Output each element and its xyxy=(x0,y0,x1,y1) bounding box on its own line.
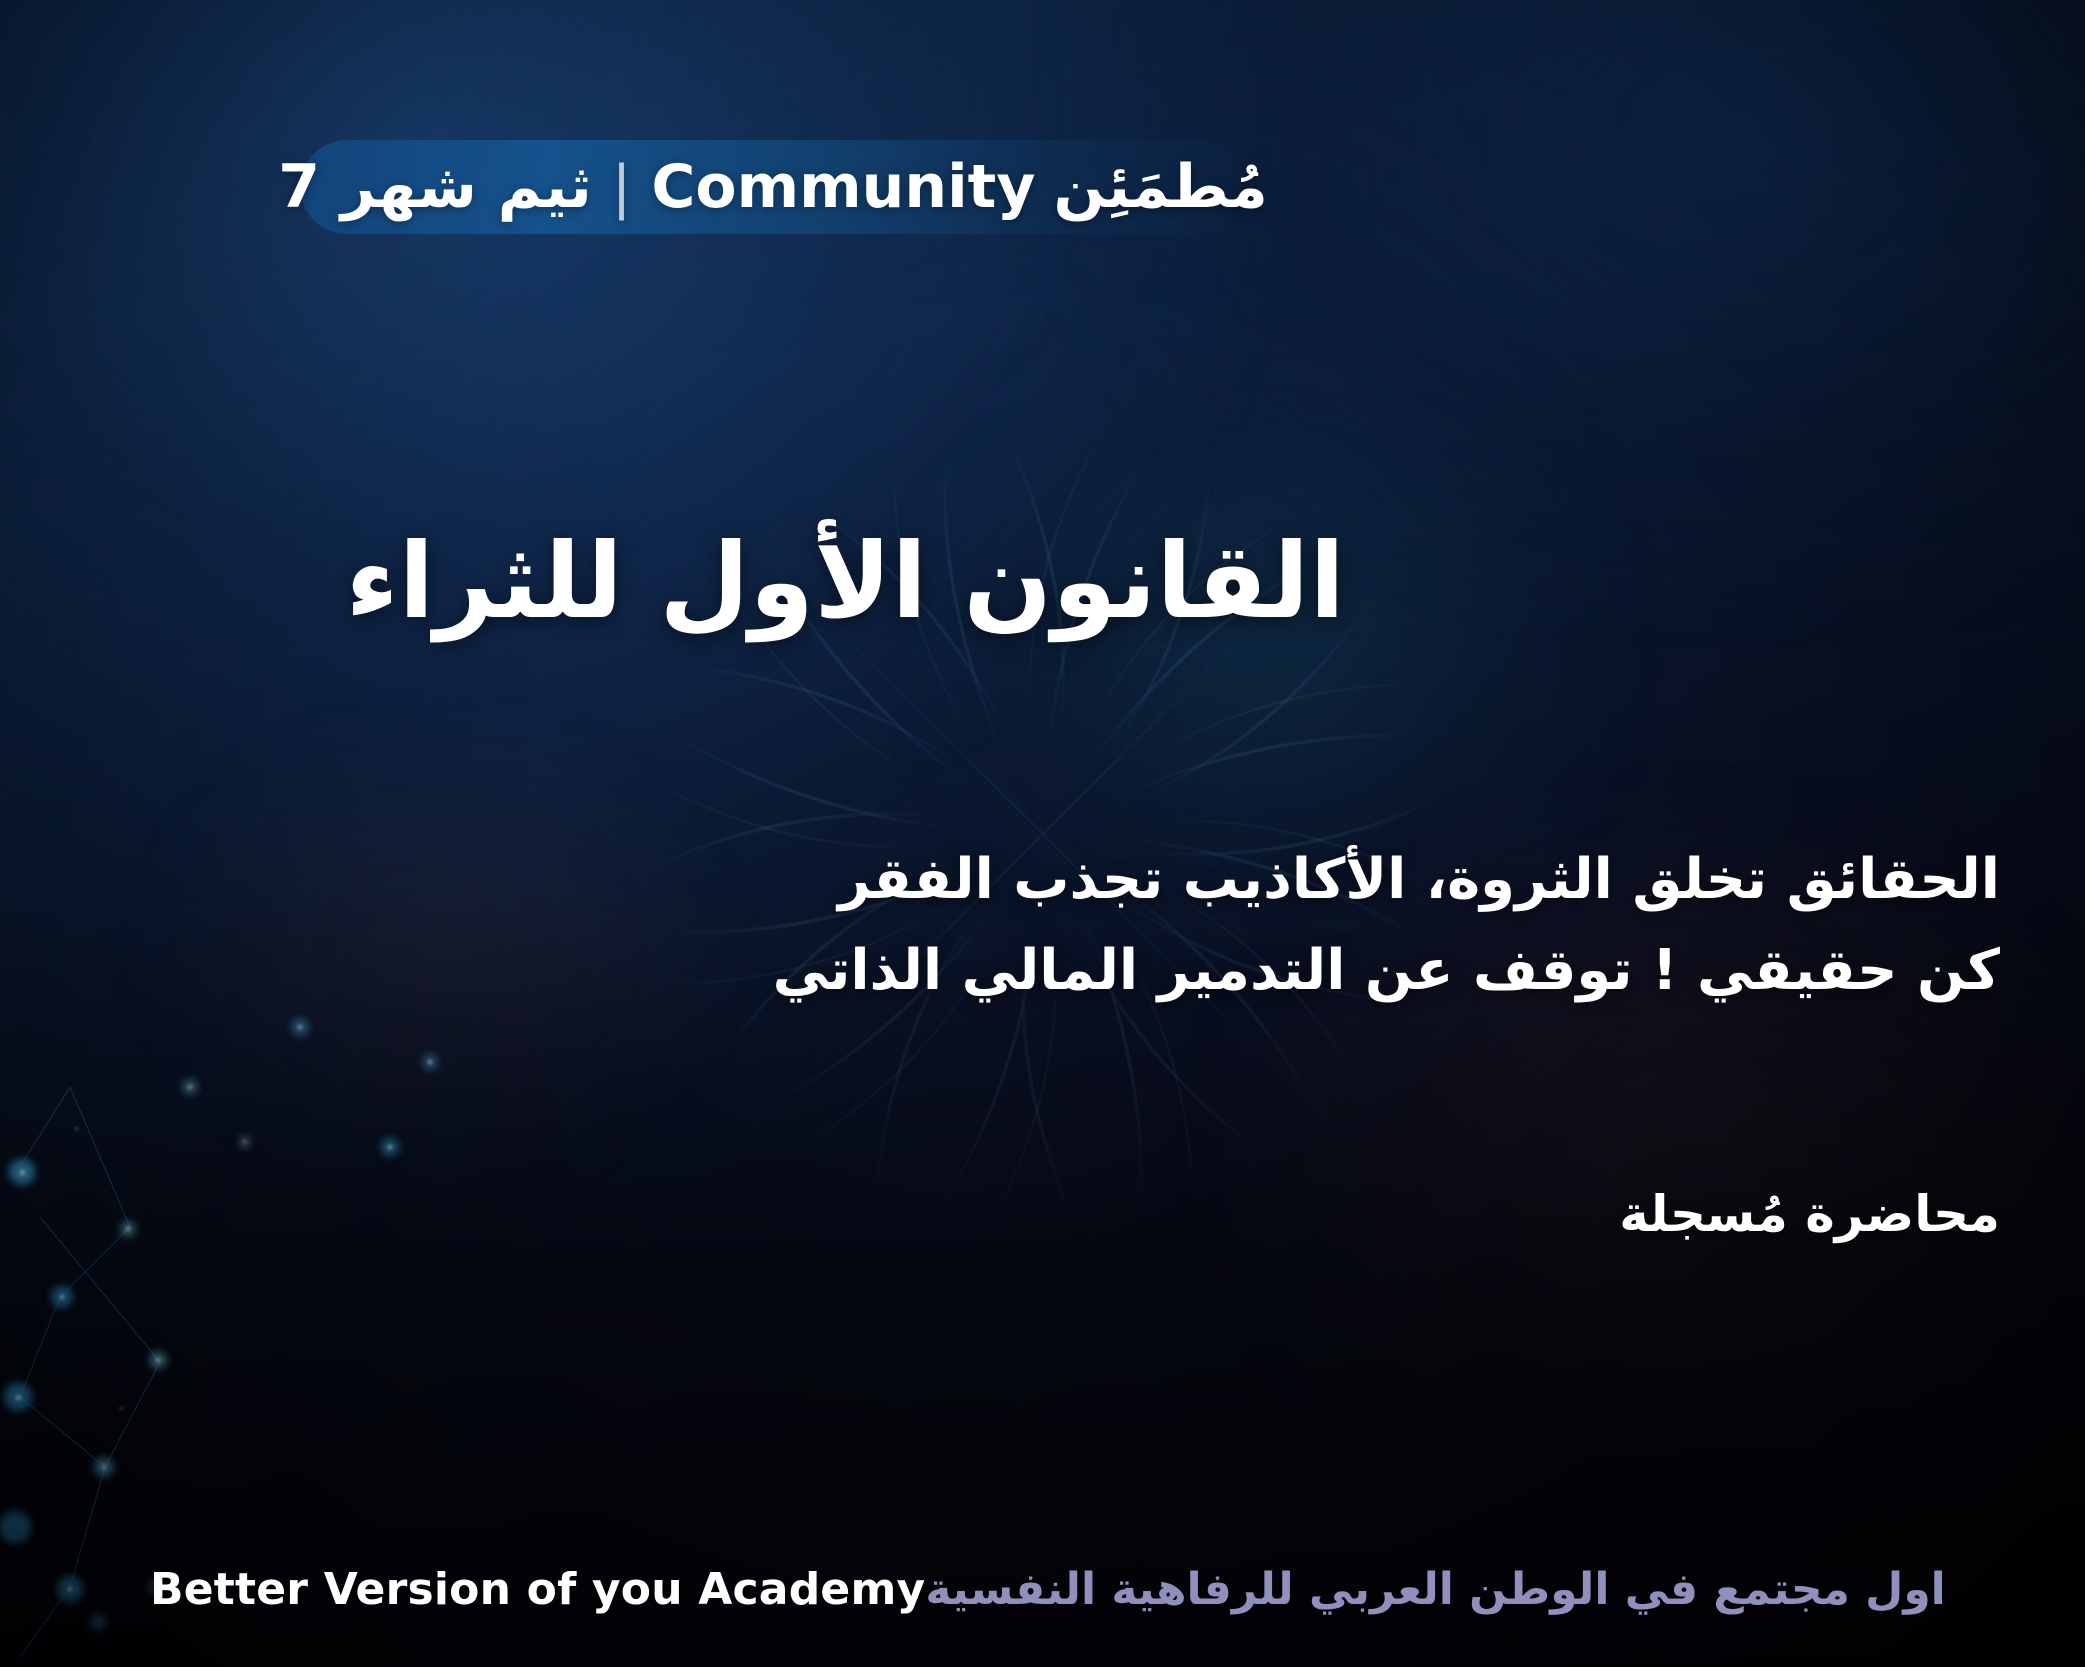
page-title: القانون الأول للثراء xyxy=(0,520,2005,643)
poster-content: مُطمَئِن Community | ثيم شهر 7 القانون ا… xyxy=(0,0,2085,1667)
theme-badge: مُطمَئِن Community | ثيم شهر 7 xyxy=(300,140,1246,234)
badge-arabic-word: مُطمَئِن xyxy=(1053,152,1267,222)
badge-month-theme: ثيم شهر 7 xyxy=(278,152,592,222)
lecture-format-note: محاضرة مُسجلة xyxy=(0,1185,2000,1243)
badge-separator: | xyxy=(610,153,634,221)
academy-name: Better Version of you Academy xyxy=(150,1564,925,1615)
body-text: الحقائق تخلق الثروة، الأكاذيب تجذب الفقر… xyxy=(0,835,2000,1016)
badge-brand-name: Community xyxy=(651,152,1035,222)
body-line-2: كن حقيقي ! توقف عن التدمير المالي الذاتي xyxy=(0,926,2000,1017)
theme-badge-text: مُطمَئِن Community | ثيم شهر 7 xyxy=(278,152,1268,222)
footer-tagline: اول مجتمع في الوطن العربي للرفاهية النفس… xyxy=(925,1564,1945,1615)
body-line-1: الحقائق تخلق الثروة، الأكاذيب تجذب الفقر xyxy=(0,835,2000,926)
footer: Better Version of you Academy اول مجتمع … xyxy=(0,1537,2085,1667)
promo-poster: مُطمَئِن Community | ثيم شهر 7 القانون ا… xyxy=(0,0,2085,1667)
